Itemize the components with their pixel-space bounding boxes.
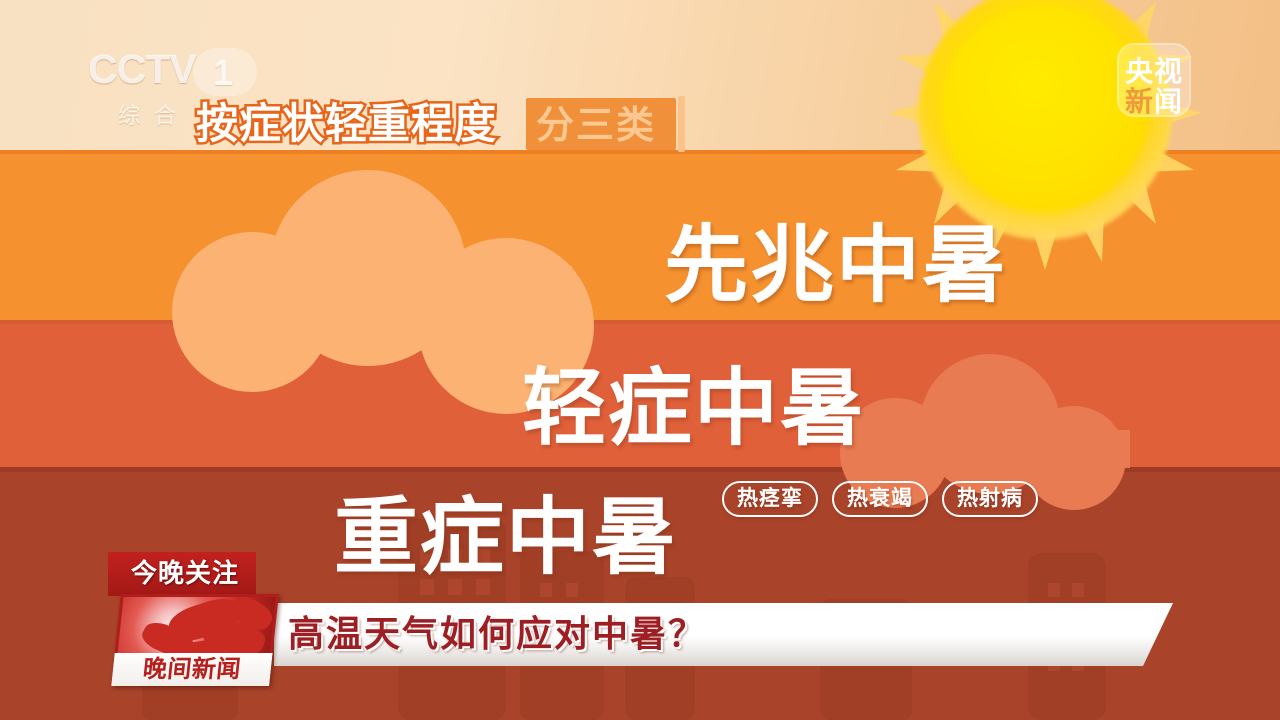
- severe-subtype-tag-2: 热衰竭: [832, 481, 928, 517]
- news-watermark-rest-char: 闻: [1154, 85, 1183, 118]
- band-divider-deep: [0, 320, 1280, 324]
- severe-subtype-tag-1: 热痉挛: [722, 481, 818, 517]
- topic-title-tail: 分三类: [536, 101, 656, 149]
- headline-text: 高温天气如何应对中暑？: [288, 608, 706, 661]
- news-watermark-accent-char: 新: [1125, 85, 1154, 118]
- topic-title-main: 按症状轻重程度: [196, 100, 497, 148]
- program-name-label: 晚间新闻: [111, 653, 272, 686]
- severity-level-2: 轻症中暑: [522, 341, 866, 462]
- severe-subtype-tag-3: 热射病: [942, 481, 1038, 517]
- severity-level-1: 先兆中暑: [664, 198, 1008, 319]
- cctv-wordmark: CCTV: [88, 46, 196, 93]
- program-logo-box: 晚间新闻: [111, 594, 279, 686]
- cctv-news-watermark: 央视 新闻: [1117, 43, 1191, 117]
- news-watermark-line2: 新闻: [1117, 80, 1191, 120]
- cctv-channel-name: 综合: [118, 98, 190, 130]
- lower-third-banner: 高温天气如何应对中暑？ 今晚关注 晚间新闻: [108, 552, 1173, 672]
- broadcast-screen: CCTV 1 综合 央视 新闻 按症状轻重程度 分三类 先兆中暑 轻症中暑 重症…: [0, 0, 1280, 720]
- topic-title-end-bar: [678, 96, 685, 152]
- segment-tab-label: 今晚关注: [114, 554, 256, 595]
- cctv-channel-number: 1: [213, 52, 233, 94]
- severe-subtype-list: 热痉挛 热衰竭 热射病: [722, 481, 1038, 517]
